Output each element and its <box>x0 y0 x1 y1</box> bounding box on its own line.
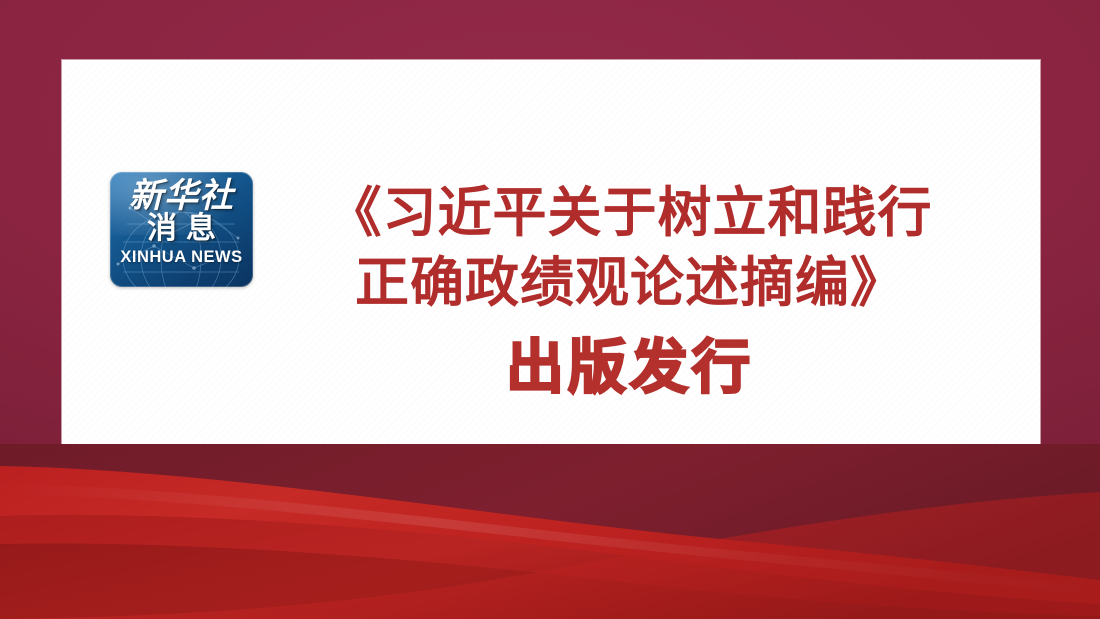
headline-line-2: 正确政绩观论述摘编》 <box>300 248 960 318</box>
headline-block: 《习近平关于树立和践行 正确政绩观论述摘编》 出版发行 <box>300 178 960 405</box>
logo-agency-name: 新华社 <box>129 179 234 214</box>
poster-canvas: 新华社 消息 XINHUA NEWS 《习近平关于树立和践行 正确政绩观论述摘编… <box>0 0 1100 619</box>
red-ribbon-wave <box>0 444 1100 619</box>
xinhua-news-logo: 新华社 消息 XINHUA NEWS <box>110 172 253 287</box>
headline-line-1: 《习近平关于树立和践行 <box>300 178 960 248</box>
logo-latin-name: XINHUA NEWS <box>120 248 242 267</box>
headline-line-3: 出版发行 <box>300 332 960 405</box>
logo-subtitle: 消息 <box>138 213 225 245</box>
